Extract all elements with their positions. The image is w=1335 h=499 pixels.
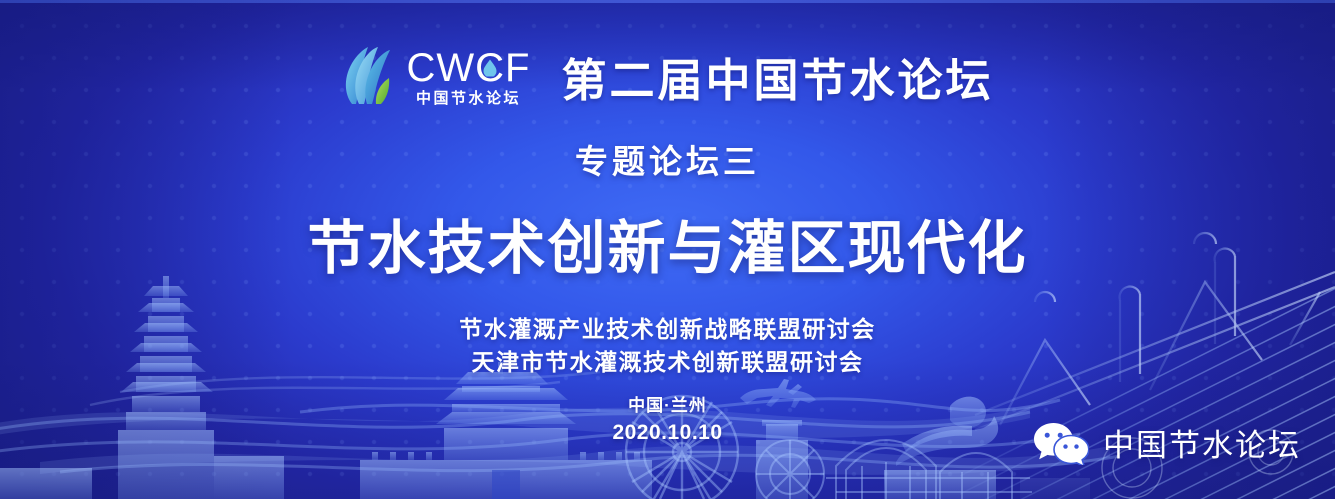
- cwcf-subtitle: 中国节水论坛: [416, 91, 521, 106]
- cwcf-acronym-part2-with-drop: C: [475, 48, 505, 88]
- organizer-line: 天津市节水灌溉技术创新联盟研讨会: [459, 346, 876, 379]
- water-drop-small-icon: [484, 60, 497, 77]
- page-title: 节水技术创新与灌区现代化: [307, 201, 1027, 285]
- conference-banner: CW C F 中国节水论坛 第二届中国节水论坛 专题论坛三 节水技术创新与灌区现…: [0, 0, 1335, 499]
- organizer-lines: 节水灌溉产业技术创新战略联盟研讨会 天津市节水灌溉技术创新联盟研讨会: [459, 313, 876, 378]
- wechat-account-name: 中国节水论坛: [1103, 420, 1301, 465]
- logo-and-title-row: CW C F 中国节水论坛 第二届中国节水论坛: [342, 44, 994, 109]
- venue-block: 中国·兰州 2020.10.10: [612, 396, 722, 445]
- wechat-account-badge[interactable]: 中国节水论坛: [1033, 420, 1301, 465]
- banner-header-title: 第二届中国节水论坛: [561, 44, 993, 109]
- wechat-icon: [1033, 421, 1089, 465]
- session-label: 专题论坛三: [575, 135, 760, 183]
- water-drop-leaf-icon: [342, 46, 394, 108]
- cwcf-acronym-part3: F: [505, 48, 530, 88]
- cwcf-acronym-part1: CW: [407, 48, 476, 88]
- cwcf-logo-block: CW C F 中国节水论坛: [407, 48, 531, 106]
- cwcf-acronym: CW C F: [407, 48, 531, 88]
- venue-date: 2020.10.10: [612, 420, 722, 445]
- venue-city: 中国·兰州: [612, 396, 722, 416]
- organizer-line: 节水灌溉产业技术创新战略联盟研讨会: [459, 313, 876, 346]
